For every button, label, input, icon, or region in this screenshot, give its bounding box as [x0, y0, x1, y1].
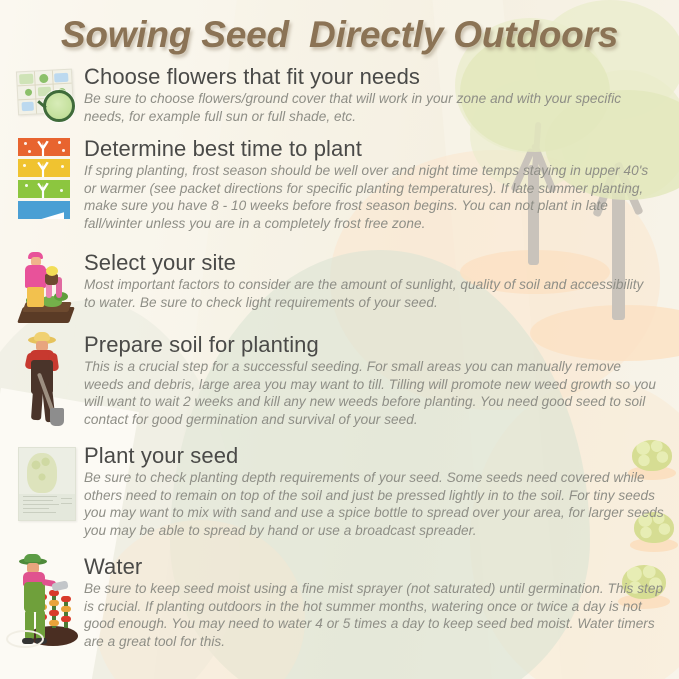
step-title: Water [84, 554, 664, 579]
step-select-site: Select your site Most important factors … [14, 250, 664, 334]
step-body: This is a crucial step for a successful … [84, 358, 664, 428]
season-bar-winter [18, 201, 70, 219]
step-title: Plant your seed [84, 443, 664, 468]
gardener-watering-icon [14, 554, 80, 654]
garden-plan-magnifier-icon [14, 64, 80, 134]
page-title: Sowing Seed Directly Outdoors [0, 14, 679, 56]
season-bar-autumn [18, 180, 70, 198]
step-title: Prepare soil for planting [84, 332, 664, 357]
step-body: Most important factors to consider are t… [84, 276, 644, 311]
seed-packet-icon [14, 443, 80, 531]
infographic-poster: Sowing Seed Directly Outdoors [0, 0, 679, 679]
step-body: Be sure to check planting depth requirem… [84, 469, 664, 539]
gardener-with-flower-bed-icon [14, 250, 80, 334]
step-body: Be sure to choose flowers/ground cover t… [84, 90, 662, 125]
step-body: Be sure to keep seed moist using a fine … [84, 580, 664, 650]
season-bar-spring [18, 138, 70, 156]
gardener-with-shovel-icon [14, 332, 80, 432]
step-title: Choose flowers that fit your needs [84, 64, 662, 89]
step-prepare-soil: Prepare soil for planting This is a cruc… [14, 332, 664, 432]
step-plant-seed: Plant your seed Be sure to check plantin… [14, 443, 664, 539]
step-body: If spring planting, frost season should … [84, 162, 664, 232]
step-water: Water Be sure to keep seed moist using a… [14, 554, 664, 654]
four-seasons-bars-icon [14, 136, 80, 226]
step-title: Determine best time to plant [84, 136, 664, 161]
step-title: Select your site [84, 250, 644, 275]
step-determine-time: Determine best time to plant If spring p… [14, 136, 664, 232]
step-choose-flowers: Choose flowers that fit your needs Be su… [14, 64, 664, 134]
season-bar-summer [18, 159, 70, 177]
